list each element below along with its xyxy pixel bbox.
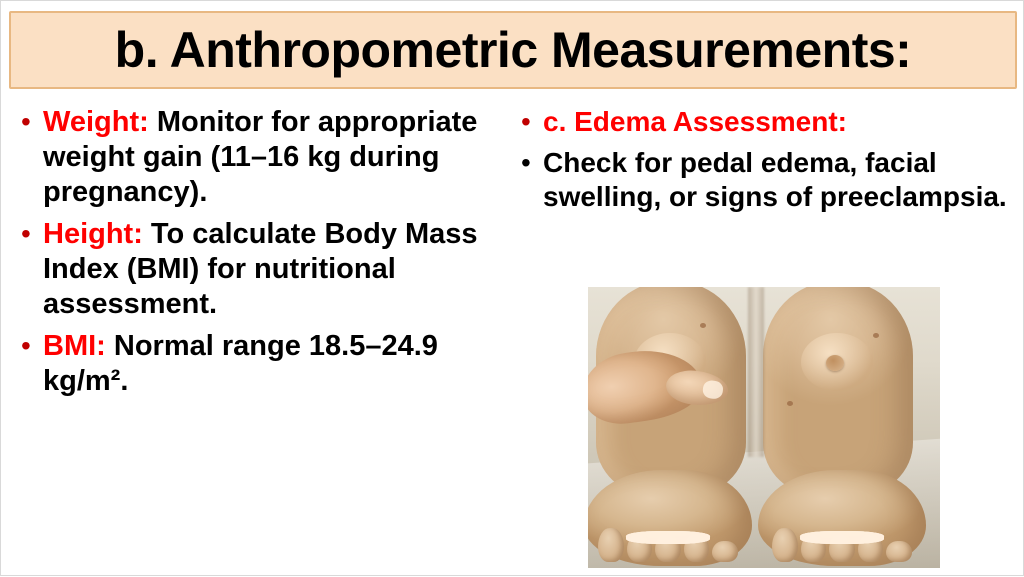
bullet-marker: •: [15, 105, 43, 139]
skin-mark: [700, 323, 706, 328]
list-item: • BMI: Normal range 18.5–24.9 kg/m².: [15, 329, 505, 399]
list-item-lead: Height:: [43, 218, 143, 250]
pitting-dimple: [826, 355, 844, 371]
skin-mark: [873, 333, 879, 338]
edema-photo: [588, 287, 940, 568]
list-item-lead: c. Edema Assessment:: [543, 106, 847, 137]
toe: [598, 528, 624, 562]
list-item: • Weight: Monitor for appropriate weight…: [15, 105, 505, 210]
list-item-rest: Check for pedal edema, facial swelling, …: [543, 147, 1007, 212]
list-item-lead: BMI:: [43, 330, 106, 362]
list-item-text: Check for pedal edema, facial swelling, …: [543, 146, 1015, 214]
left-content-column: • Weight: Monitor for appropriate weight…: [15, 105, 505, 406]
left-toes: [598, 528, 738, 562]
list-item-text: Weight: Monitor for appropriate weight g…: [43, 105, 505, 210]
list-item-text: BMI: Normal range 18.5–24.9 kg/m².: [43, 329, 505, 399]
toenail: [800, 531, 884, 544]
right-content-column: • c. Edema Assessment: • Check for pedal…: [515, 105, 1015, 221]
right-toes: [772, 528, 912, 562]
slide-body: • Weight: Monitor for appropriate weight…: [1, 97, 1024, 577]
list-item-lead: Weight:: [43, 106, 149, 138]
bullet-marker: •: [515, 146, 543, 180]
fingernail: [702, 380, 724, 400]
toe: [886, 541, 912, 562]
leg-gap-shadow: [748, 287, 764, 457]
edema-photo-content: [588, 287, 940, 568]
list-item: • Height: To calculate Body Mass Index (…: [15, 217, 505, 322]
bullet-marker: •: [15, 217, 43, 251]
toenail: [626, 531, 710, 544]
list-item-text: c. Edema Assessment:: [543, 105, 1015, 139]
right-foot: [758, 470, 926, 566]
toe: [712, 541, 738, 562]
page-title: b. Anthropometric Measurements:: [115, 25, 912, 75]
list-item: • c. Edema Assessment:: [515, 105, 1015, 139]
left-foot: [588, 470, 752, 566]
right-leg: [763, 287, 913, 496]
list-item-text: Height: To calculate Body Mass Index (BM…: [43, 217, 505, 322]
slide-title-banner: b. Anthropometric Measurements:: [9, 11, 1017, 89]
skin-mark: [787, 401, 793, 406]
list-item: • Check for pedal edema, facial swelling…: [515, 146, 1015, 214]
bullet-marker: •: [15, 329, 43, 363]
bullet-marker: •: [515, 105, 543, 139]
toe: [772, 528, 798, 562]
slide: b. Anthropometric Measurements: • Weight…: [0, 0, 1024, 576]
